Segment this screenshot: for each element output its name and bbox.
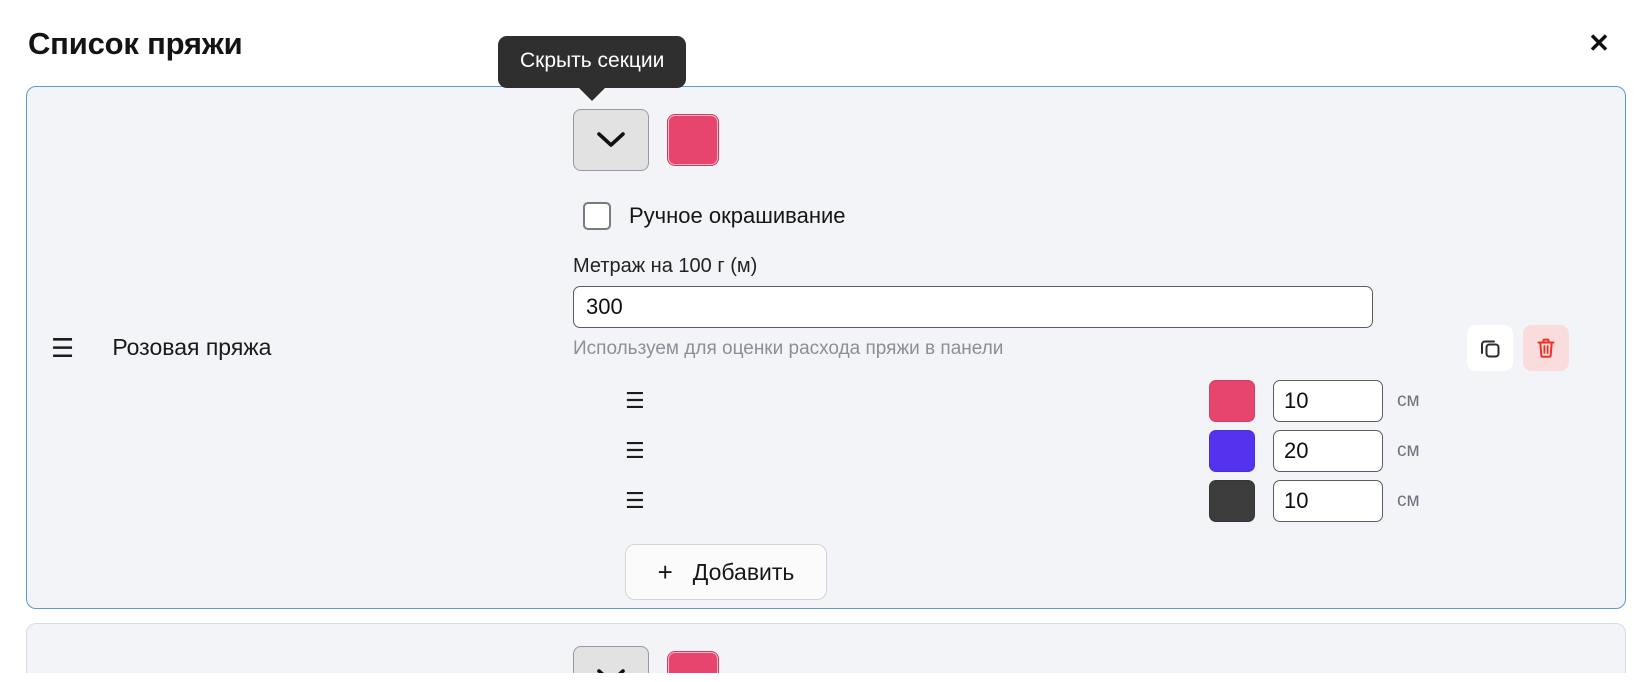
section-length-input[interactable]: [1273, 380, 1383, 422]
section-row: ☰ см: [573, 430, 1457, 472]
plus-icon: +: [658, 559, 673, 585]
drag-handle-icon[interactable]: ☰: [625, 490, 665, 512]
drag-handle-icon[interactable]: ☰: [51, 335, 74, 361]
yarn-main-color-swatch[interactable]: [667, 114, 719, 166]
yarn-main-color-swatch[interactable]: [667, 651, 719, 673]
yarn-card-next-left: [27, 624, 573, 673]
section-row: ☰ см: [573, 380, 1457, 422]
chevron-down-icon[interactable]: [573, 646, 649, 673]
modal-header: Список пряжи ✕: [26, 0, 1626, 86]
add-section-button[interactable]: + Добавить: [625, 544, 827, 600]
drag-handle-icon[interactable]: ☰: [625, 390, 665, 412]
yarn-card-next-body: [573, 624, 1457, 673]
manual-dye-checkbox[interactable]: [583, 202, 611, 230]
yarn-card-actions: [1457, 87, 1625, 608]
yarn-card: ☰ Розовая пряжа Ручное окрашивание Метра…: [26, 86, 1626, 609]
section-unit-label: см: [1397, 440, 1457, 462]
copy-icon[interactable]: [1467, 325, 1513, 371]
collapse-and-color-row: [573, 646, 1457, 673]
section-unit-label: см: [1397, 490, 1457, 512]
tooltip-text: Скрыть секции: [520, 49, 664, 72]
collapse-and-color-row: [573, 109, 1457, 171]
metrage-help-text: Используем для оценки расхода пряжи в па…: [573, 339, 1457, 358]
manual-dye-label: Ручное окрашивание: [629, 203, 846, 229]
section-row: ☰ см: [573, 480, 1457, 522]
add-section-label: Добавить: [693, 559, 795, 586]
section-length-input[interactable]: [1273, 430, 1383, 472]
yarn-list-modal: Список пряжи ✕ Скрыть секции ☰ Розовая п…: [0, 0, 1652, 682]
page-title: Список пряжи: [26, 28, 242, 59]
section-list: ☰ см ☰ см ☰ с: [573, 380, 1457, 522]
manual-dye-row: Ручное окрашивание: [573, 202, 1457, 230]
section-color-swatch[interactable]: [1209, 380, 1255, 422]
section-unit-label: см: [1397, 390, 1457, 412]
yarn-card-body: Ручное окрашивание Метраж на 100 г (м) И…: [573, 87, 1457, 608]
section-length-input[interactable]: [1273, 480, 1383, 522]
tooltip-hide-sections: Скрыть секции: [498, 36, 686, 88]
trash-icon[interactable]: [1523, 325, 1569, 371]
close-icon[interactable]: ✕: [1578, 22, 1620, 64]
metrage-input[interactable]: [573, 286, 1373, 328]
yarn-name: Розовая пряжа: [112, 334, 271, 361]
drag-handle-icon[interactable]: ☰: [625, 440, 665, 462]
yarn-card-next-actions: [1457, 624, 1625, 673]
section-color-swatch[interactable]: [1209, 480, 1255, 522]
yarn-card-left: ☰ Розовая пряжа: [27, 87, 573, 608]
section-color-swatch[interactable]: [1209, 430, 1255, 472]
yarn-card-next-partial[interactable]: [26, 623, 1626, 673]
chevron-down-icon[interactable]: [573, 109, 649, 171]
metrage-label: Метраж на 100 г (м): [573, 256, 1457, 276]
